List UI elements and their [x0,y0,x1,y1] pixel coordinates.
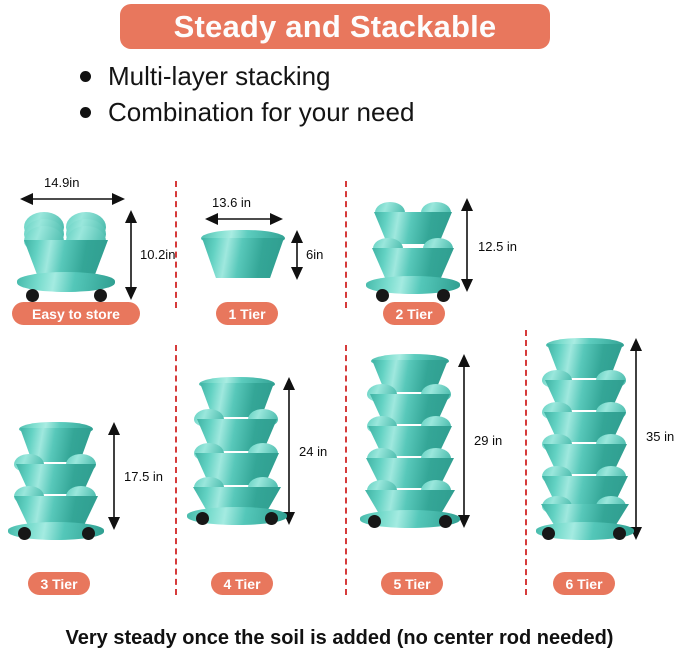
item-6-tier: 35 in 6 Tier [525,330,679,595]
height-dimension-label: 35 in [646,430,674,443]
item-easy-to-store: 14.9in 10.2in Easy to store [0,180,175,330]
caster-wheel-icon [18,527,31,540]
caster-wheel-icon [94,289,107,302]
footer-caption: Very steady once the soil is added (no c… [0,628,679,648]
caster-wheel-icon [26,289,39,302]
item-label-badge: Easy to store [12,302,140,325]
item-label-badge: 1 Tier [216,302,278,325]
height-dimension-arrow [290,230,304,280]
height-dimension-label: 6in [306,248,323,261]
item-label-text: 3 Tier [40,576,77,592]
height-dimension-label: 10.2in [140,248,175,261]
item-label-text: 5 Tier [393,576,430,592]
height-dimension-label: 29 in [474,434,502,447]
caster-wheel-icon [82,527,95,540]
item-label-text: 2 Tier [395,306,432,322]
caster-wheel-icon [265,512,278,525]
height-dimension-label: 17.5 in [124,470,163,483]
item-label-text: 4 Tier [223,576,260,592]
width-dimension-label: 13.6 in [212,196,251,209]
caster-wheel-icon [437,289,450,302]
width-dimension-arrow [20,192,125,206]
planter-illustration-5-tier [363,354,457,528]
list-item: Combination for your need [80,94,620,130]
caster-wheel-icon [613,527,626,540]
page-title: Steady and Stackable [174,11,497,42]
item-4-tier: 24 in 4 Tier [175,375,345,595]
item-label-text: 6 Tier [565,576,602,592]
item-label-text: Easy to store [32,306,120,322]
item-1-tier: 13.6 in 6in 1 Tier [175,180,345,330]
item-label-badge: 4 Tier [211,572,273,595]
width-dimension-label: 14.9in [44,176,79,189]
height-dimension-arrow [107,422,121,530]
caster-wheel-icon [542,527,555,540]
caster-wheel-icon [196,512,209,525]
bullet-text: Multi-layer stacking [108,63,331,89]
planter-illustration-1-tier [201,230,285,282]
item-3-tier: 17.5 in 3 Tier [0,400,175,595]
bullet-dot-icon [80,71,91,82]
item-label-text: 1 Tier [228,306,265,322]
bullet-dot-icon [80,107,91,118]
caster-wheel-icon [376,289,389,302]
caster-wheel-icon [439,515,452,528]
height-dimension-arrow [629,338,643,540]
width-dimension-arrow [205,212,283,226]
height-dimension-arrow [457,354,471,528]
height-dimension-label: 24 in [299,445,327,458]
item-2-tier: 12.5 in 2 Tier [345,180,525,330]
planter-illustration-easy-to-store [18,210,118,302]
height-dimension-arrow [124,210,138,300]
feature-bullet-list: Multi-layer stacking Combination for you… [80,58,620,130]
planter-illustration-2-tier [371,202,455,302]
height-dimension-arrow [282,377,296,525]
planter-illustration-3-tier [12,422,100,540]
caster-wheel-icon [368,515,381,528]
height-dimension-label: 12.5 in [478,240,517,253]
item-label-badge: 5 Tier [381,572,443,595]
planter-illustration-4-tier [191,377,283,525]
planter-illustration-6-tier [539,338,631,540]
item-label-badge: 2 Tier [383,302,445,325]
list-item: Multi-layer stacking [80,58,620,94]
item-5-tier: 29 in 5 Tier [345,348,525,595]
height-dimension-arrow [460,198,474,292]
page-title-badge: Steady and Stackable [120,4,550,49]
item-label-badge: 6 Tier [553,572,615,595]
item-label-badge: 3 Tier [28,572,90,595]
bullet-text: Combination for your need [108,99,414,125]
